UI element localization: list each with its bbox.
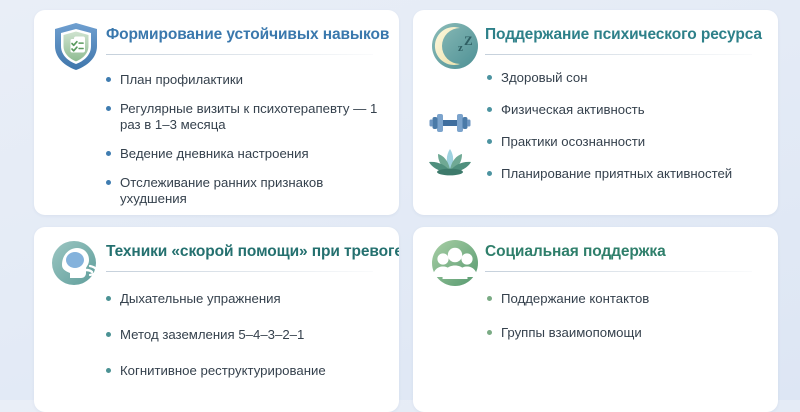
list-item-text: Метод заземления 5–4–3–2–1 — [120, 327, 304, 342]
bullet-dot — [106, 332, 111, 337]
list-item-text: Когнитивное реструктурирование — [120, 363, 326, 378]
title-divider — [106, 54, 373, 55]
card-social-support: Социальная поддержка Поддержание контакт… — [413, 227, 778, 412]
bullet-dot — [487, 330, 492, 335]
list-item-text: Отслеживание ранних признаков ухудшения — [120, 175, 323, 206]
list-item-text: Регулярные визиты к психотерапевту — 1 р… — [120, 101, 377, 132]
list-item-text: План профилактики — [120, 72, 243, 87]
card-title: Социальная поддержка — [485, 243, 764, 261]
list-item: Здоровый сон — [501, 70, 762, 86]
dumbbell-icon — [427, 106, 473, 140]
bullet-dot — [487, 139, 492, 144]
title-divider — [485, 54, 752, 55]
list-item-text: Дыхательные упражнения — [120, 291, 281, 306]
bullet-dot — [106, 180, 111, 185]
list-item-text: Физическая активность — [501, 102, 645, 117]
list-item: Метод заземления 5–4–3–2–1 — [120, 327, 383, 343]
list-item-text: Группы взаимопомощи — [501, 325, 642, 340]
title-divider — [106, 271, 373, 272]
list-item: Дыхательные упражнения — [120, 291, 383, 307]
list-item: Физическая активность — [501, 102, 762, 118]
bullet-dot — [106, 368, 111, 373]
list-item: Планирование приятных активностей — [501, 166, 762, 182]
card-title: Техники «скорой помощи» при тревоге — [106, 243, 385, 261]
card-header: Техники «скорой помощи» при тревоге — [34, 227, 399, 283]
card-sustainable-skills: Формирование устойчивых навыков План про… — [34, 10, 399, 215]
list-item: Регулярные визиты к психотерапевту — 1 р… — [120, 101, 383, 133]
bullet-dot — [106, 77, 111, 82]
card-header: z Z Поддержание психического ресурса — [413, 10, 778, 66]
bullet-dot — [487, 75, 492, 80]
list-item-text: Практики осознанности — [501, 134, 645, 149]
list-item: Когнитивное реструктурирование — [120, 363, 383, 379]
bullet-dot — [487, 107, 492, 112]
list-item: Группы взаимопомощи — [501, 325, 762, 341]
moon-sleep-icon: z Z — [429, 20, 481, 72]
bullet-dot — [487, 296, 492, 301]
infographic-board: Формирование устойчивых навыков План про… — [0, 0, 800, 400]
bullet-list: План профилактики Регулярные визиты к пс… — [34, 66, 399, 207]
svg-text:Z: Z — [464, 33, 473, 48]
card-mental-resource: z Z Поддержание психического ресурса — [413, 10, 778, 215]
list-item: План профилактики — [120, 72, 383, 88]
shield-checklist-icon — [50, 20, 102, 72]
list-item: Отслеживание ранних признаков ухудшения — [120, 175, 383, 207]
card-title: Формирование устойчивых навыков — [106, 26, 385, 44]
people-group-icon — [429, 237, 481, 289]
bullet-list: Поддержание контактов Группы взаимопомощ… — [413, 283, 778, 341]
card-title: Поддержание психического ресурса — [485, 26, 764, 44]
svg-text:z: z — [458, 42, 463, 54]
bullet-dot — [487, 171, 492, 176]
breathing-head-icon — [50, 237, 102, 289]
list-item: Поддержание контактов — [501, 291, 762, 307]
list-item-text: Ведение дневника настроения — [120, 146, 309, 161]
list-item-text: Планирование приятных активностей — [501, 166, 732, 181]
bullet-list: Дыхательные упражнения Метод заземления … — [34, 283, 399, 379]
list-item-text: Здоровый сон — [501, 70, 588, 85]
list-item: Ведение дневника настроения — [120, 146, 383, 162]
card-anxiety-first-aid: Техники «скорой помощи» при тревоге Дыха… — [34, 227, 399, 412]
title-divider — [485, 271, 752, 272]
lotus-icon — [427, 146, 473, 180]
card-header: Формирование устойчивых навыков — [34, 10, 399, 66]
bullet-dot — [106, 151, 111, 156]
list-item: Практики осознанности — [501, 134, 762, 150]
card-header: Социальная поддержка — [413, 227, 778, 283]
bullet-dot — [106, 106, 111, 111]
list-item-text: Поддержание контактов — [501, 291, 649, 306]
bullet-dot — [106, 296, 111, 301]
